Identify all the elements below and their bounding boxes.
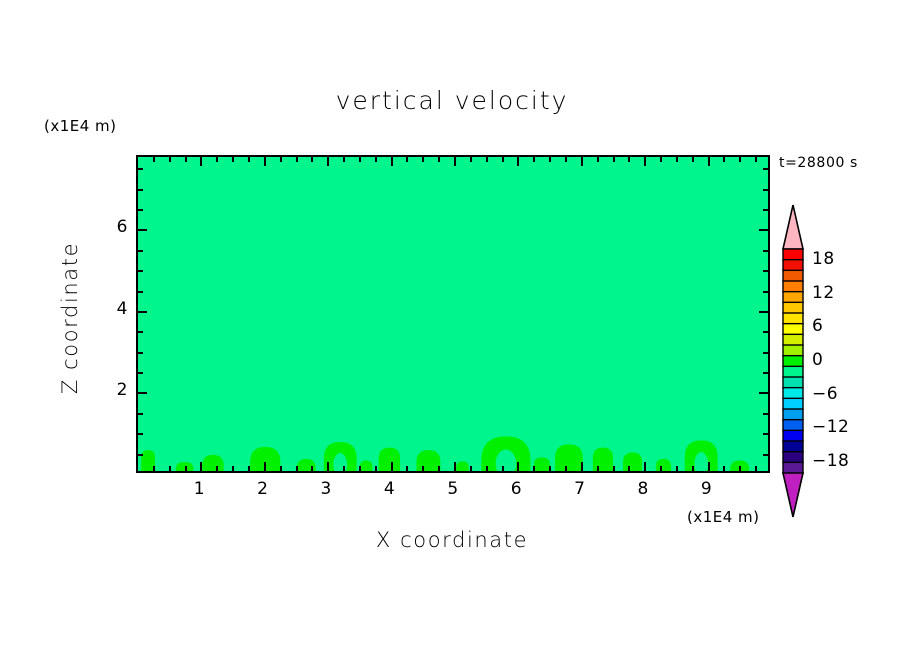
axis-tick bbox=[138, 189, 143, 191]
x-tick-label: 5 bbox=[433, 479, 473, 499]
axis-tick bbox=[533, 157, 535, 162]
axis-tick bbox=[232, 466, 234, 471]
axis-tick bbox=[422, 466, 424, 471]
axis-tick bbox=[454, 462, 456, 471]
colorbar-band bbox=[783, 409, 803, 420]
axis-tick bbox=[759, 311, 768, 313]
y-tick-label: 6 bbox=[98, 217, 128, 237]
axis-tick bbox=[248, 157, 250, 162]
axis-tick bbox=[185, 466, 187, 471]
axis-tick bbox=[200, 462, 202, 471]
colorbar-band bbox=[783, 302, 803, 313]
axis-tick bbox=[581, 157, 583, 166]
axis-tick bbox=[359, 157, 361, 162]
axis-tick bbox=[311, 466, 313, 471]
colorbar-tick-label: 6 bbox=[812, 316, 823, 336]
colorbar-band bbox=[783, 334, 803, 345]
axis-tick bbox=[185, 157, 187, 162]
colorbar-cap-top bbox=[783, 205, 803, 249]
axis-tick bbox=[470, 466, 472, 471]
axis-tick bbox=[708, 462, 710, 471]
axis-tick bbox=[739, 157, 741, 162]
axis-tick bbox=[692, 157, 694, 162]
axis-tick bbox=[597, 157, 599, 162]
x-tick-label: 1 bbox=[179, 479, 219, 499]
colorbar-band bbox=[783, 452, 803, 463]
contour-blob bbox=[623, 452, 642, 471]
axis-tick bbox=[660, 157, 662, 162]
axis-tick bbox=[327, 462, 329, 471]
axis-tick bbox=[359, 466, 361, 471]
axis-tick bbox=[613, 157, 615, 162]
axis-tick bbox=[296, 466, 298, 471]
axis-tick bbox=[216, 466, 218, 471]
axis-tick bbox=[763, 352, 768, 354]
axis-tick bbox=[138, 331, 143, 333]
axis-tick bbox=[692, 466, 694, 471]
axis-tick bbox=[138, 311, 147, 313]
axis-tick bbox=[138, 229, 147, 231]
colorbar-tick-label: 18 bbox=[812, 249, 835, 269]
contour-blob bbox=[555, 444, 583, 471]
axis-tick bbox=[138, 392, 147, 394]
axis-tick bbox=[763, 291, 768, 293]
axis-tick bbox=[343, 466, 345, 471]
axis-tick bbox=[232, 157, 234, 162]
colorbar-tick-label: 12 bbox=[812, 283, 835, 303]
y-axis-title: Z coordinate bbox=[58, 218, 82, 418]
colorbar-band bbox=[783, 441, 803, 452]
contour-blob bbox=[656, 459, 671, 471]
x-axis-title: X coordinate bbox=[0, 528, 904, 552]
colorbar-band bbox=[783, 249, 803, 260]
axis-tick bbox=[755, 466, 757, 471]
axis-tick bbox=[422, 157, 424, 162]
axis-tick bbox=[644, 462, 646, 471]
axis-tick bbox=[763, 413, 768, 415]
colorbar bbox=[781, 203, 805, 519]
axis-tick bbox=[391, 157, 393, 166]
x-tick-label: 3 bbox=[306, 479, 346, 499]
axis-tick bbox=[763, 209, 768, 211]
axis-tick bbox=[216, 157, 218, 162]
colorbar-band bbox=[783, 388, 803, 399]
contour-blob bbox=[456, 461, 469, 471]
axis-tick bbox=[486, 466, 488, 471]
colorbar-band bbox=[783, 270, 803, 281]
axis-tick bbox=[296, 157, 298, 162]
contour-blob bbox=[379, 448, 400, 471]
axis-tick bbox=[375, 157, 377, 162]
axis-tick bbox=[763, 270, 768, 272]
axis-tick bbox=[169, 157, 171, 162]
axis-tick bbox=[169, 466, 171, 471]
x-tick-label: 6 bbox=[496, 479, 536, 499]
colorbar-tick-label: 0 bbox=[812, 350, 823, 370]
x-tick-label: 8 bbox=[623, 479, 663, 499]
axis-tick bbox=[327, 157, 329, 166]
axis-tick bbox=[264, 157, 266, 166]
colorbar-band bbox=[783, 420, 803, 431]
axis-tick bbox=[153, 466, 155, 471]
axis-tick bbox=[708, 157, 710, 166]
axis-tick bbox=[138, 454, 143, 456]
colorbar-band bbox=[783, 356, 803, 367]
axis-tick bbox=[763, 189, 768, 191]
colorbar-band bbox=[783, 292, 803, 303]
axis-tick bbox=[763, 168, 768, 170]
axis-tick bbox=[264, 462, 266, 471]
colorbar-tick-label: −12 bbox=[812, 417, 849, 437]
axis-tick bbox=[723, 157, 725, 162]
axis-tick bbox=[581, 462, 583, 471]
axis-tick bbox=[438, 466, 440, 471]
axis-tick bbox=[517, 157, 519, 166]
plot-area bbox=[136, 155, 770, 473]
axis-tick bbox=[597, 466, 599, 471]
x-tick-label: 4 bbox=[370, 479, 410, 499]
colorbar-band bbox=[783, 345, 803, 356]
axis-tick bbox=[375, 466, 377, 471]
x-tick-label: 2 bbox=[243, 479, 283, 499]
colorbar-band bbox=[783, 398, 803, 409]
axis-tick bbox=[280, 157, 282, 162]
axis-tick bbox=[138, 250, 143, 252]
colorbar-band bbox=[783, 324, 803, 335]
contour-field bbox=[138, 157, 768, 471]
axis-tick bbox=[565, 466, 567, 471]
axis-tick bbox=[759, 392, 768, 394]
colorbar-band bbox=[783, 366, 803, 377]
axis-tick bbox=[676, 466, 678, 471]
axis-tick bbox=[138, 352, 143, 354]
axis-tick bbox=[763, 372, 768, 374]
colorbar-band bbox=[783, 462, 803, 473]
axis-tick bbox=[565, 157, 567, 162]
colorbar-band bbox=[783, 377, 803, 388]
x-tick-label: 9 bbox=[687, 479, 727, 499]
colorbar-tick-labels: 181260−6−12−18 bbox=[812, 203, 872, 519]
y-tick-label: 4 bbox=[98, 299, 128, 319]
axis-tick bbox=[438, 157, 440, 162]
axis-tick bbox=[644, 157, 646, 166]
axis-tick bbox=[517, 462, 519, 471]
colorbar-band bbox=[783, 260, 803, 271]
contour-blob bbox=[360, 461, 373, 471]
colorbar-gradient bbox=[781, 203, 805, 519]
axis-tick bbox=[153, 157, 155, 162]
x-tick-label: 7 bbox=[560, 479, 600, 499]
axis-tick bbox=[763, 250, 768, 252]
axis-tick bbox=[759, 229, 768, 231]
contour-blob bbox=[534, 457, 550, 471]
axis-tick bbox=[739, 466, 741, 471]
axis-tick bbox=[311, 157, 313, 162]
axis-tick bbox=[343, 157, 345, 162]
axis-tick bbox=[533, 466, 535, 471]
colorbar-tick-label: −18 bbox=[812, 451, 849, 471]
axis-tick bbox=[248, 466, 250, 471]
axis-tick bbox=[549, 157, 551, 162]
axis-tick bbox=[676, 157, 678, 162]
axis-tick bbox=[200, 157, 202, 166]
axis-tick bbox=[763, 454, 768, 456]
contour-blob bbox=[202, 455, 223, 471]
axis-tick bbox=[138, 291, 143, 293]
y-axis-unit-label: (x1E4 m) bbox=[44, 117, 117, 135]
axis-tick bbox=[391, 462, 393, 471]
axis-tick bbox=[138, 413, 143, 415]
axis-tick bbox=[502, 466, 504, 471]
axis-tick bbox=[613, 466, 615, 471]
x-axis-unit-label: (x1E4 m) bbox=[687, 508, 760, 526]
timestamp-annotation: t=28800 s bbox=[779, 155, 858, 171]
axis-tick bbox=[280, 466, 282, 471]
axis-tick bbox=[723, 466, 725, 471]
y-tick-label: 2 bbox=[98, 380, 128, 400]
axis-tick bbox=[138, 372, 143, 374]
axis-tick bbox=[549, 466, 551, 471]
axis-tick bbox=[406, 157, 408, 162]
contour-blob bbox=[416, 450, 440, 471]
axis-tick bbox=[454, 157, 456, 166]
axis-tick bbox=[138, 209, 143, 211]
axis-tick bbox=[502, 157, 504, 162]
colorbar-tick-label: −6 bbox=[812, 384, 838, 404]
axis-tick bbox=[763, 433, 768, 435]
axis-tick bbox=[628, 157, 630, 162]
colorbar-cap-bottom bbox=[783, 473, 803, 517]
colorbar-band bbox=[783, 313, 803, 324]
axis-tick bbox=[486, 157, 488, 162]
axis-tick bbox=[763, 331, 768, 333]
axis-tick bbox=[660, 466, 662, 471]
axis-tick bbox=[628, 466, 630, 471]
colorbar-band bbox=[783, 281, 803, 292]
axis-tick bbox=[138, 433, 143, 435]
axis-tick bbox=[755, 157, 757, 162]
axis-tick bbox=[138, 270, 143, 272]
axis-tick bbox=[406, 466, 408, 471]
chart-title: vertical velocity bbox=[0, 86, 904, 115]
axis-tick bbox=[138, 168, 143, 170]
axis-tick bbox=[470, 157, 472, 162]
colorbar-band bbox=[783, 430, 803, 441]
